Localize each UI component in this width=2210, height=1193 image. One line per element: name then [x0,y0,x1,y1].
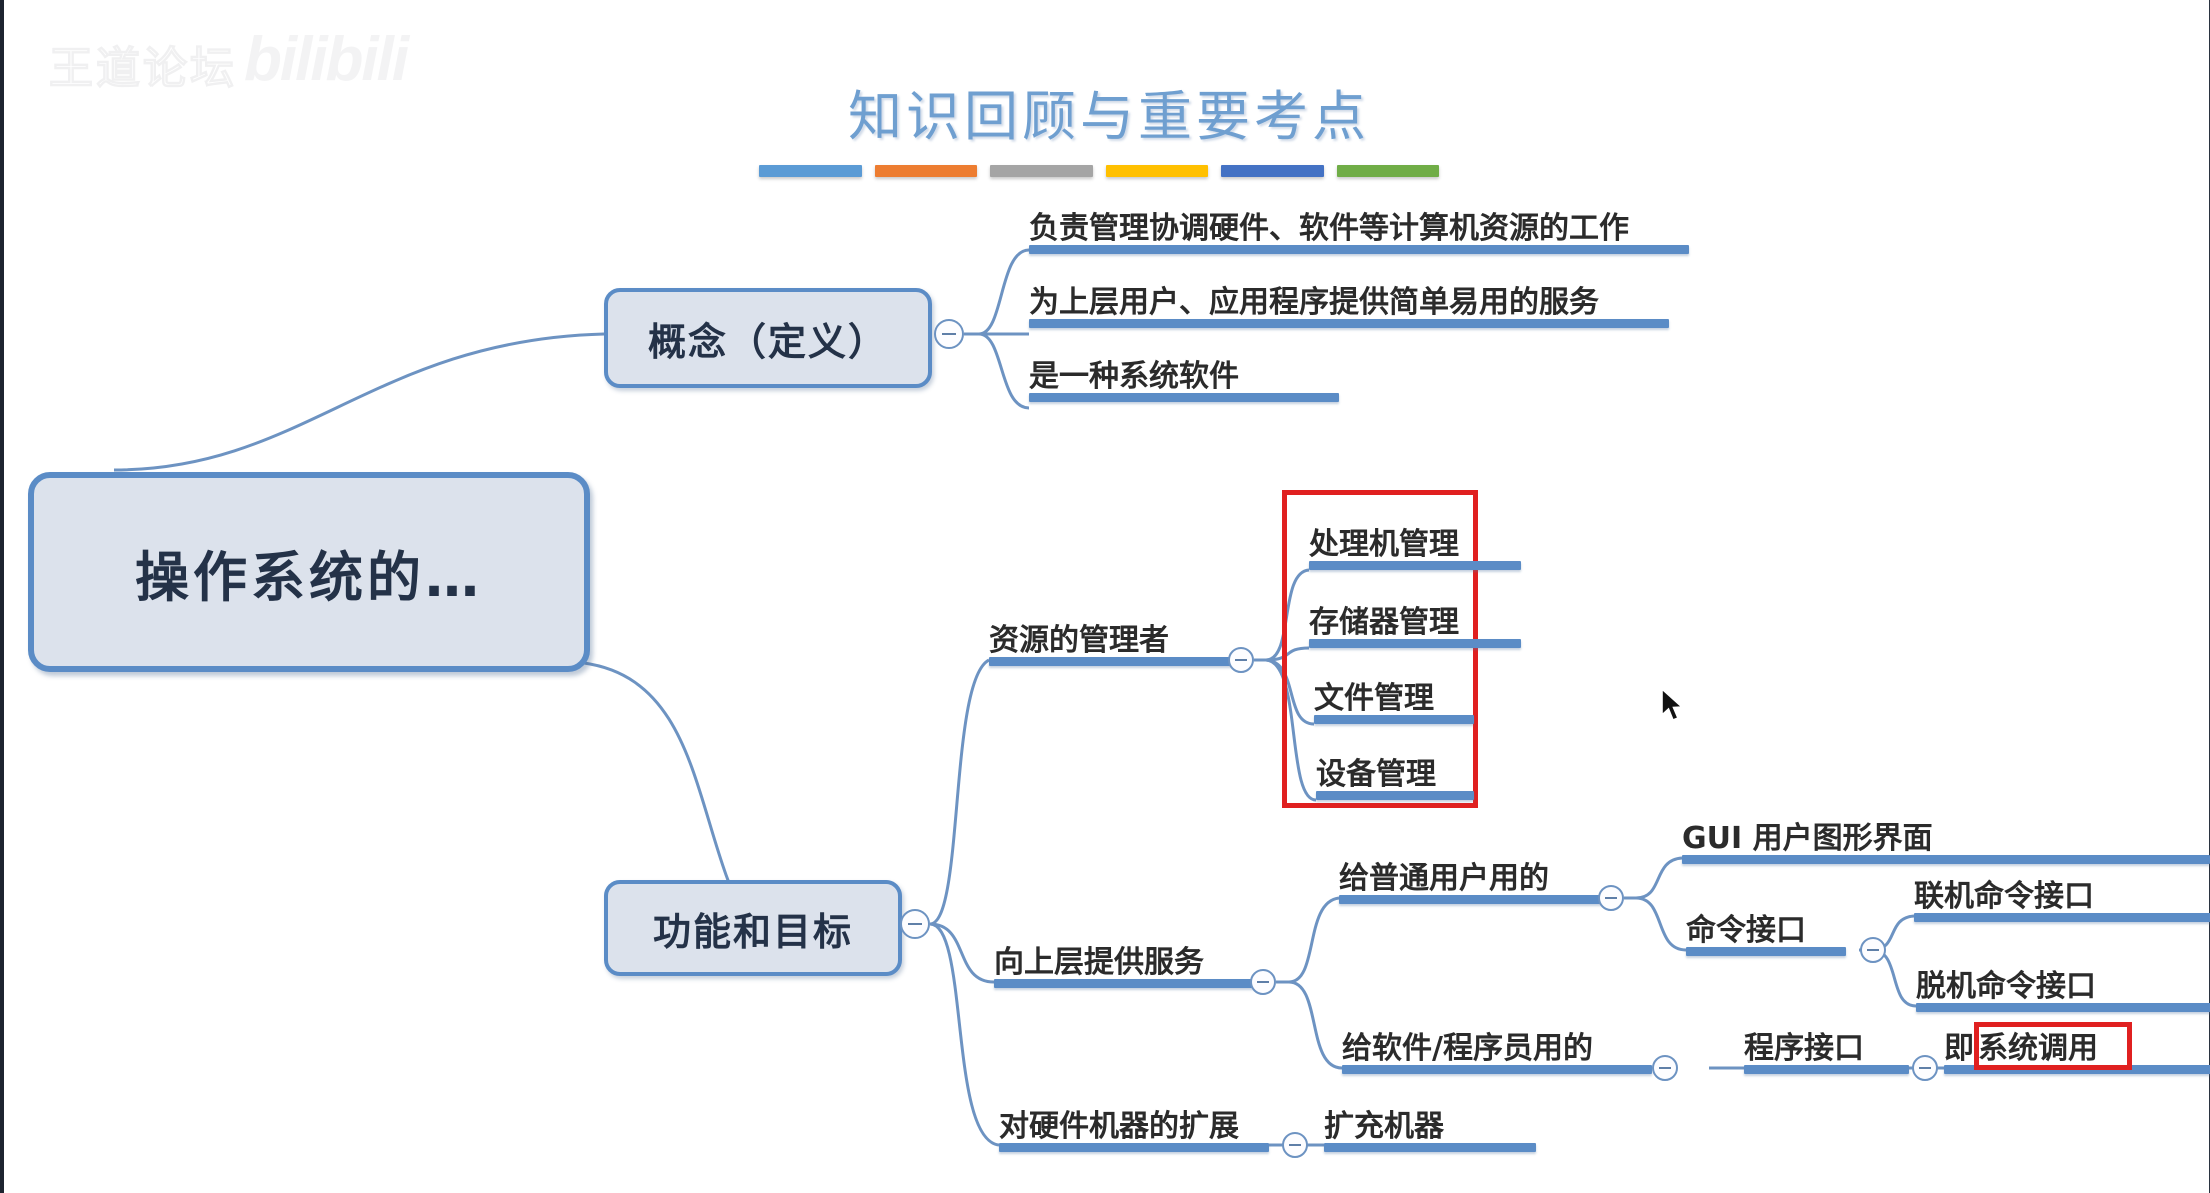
toggle-for-common-user[interactable] [1598,885,1624,911]
toggle-concept[interactable] [934,319,964,349]
leaf-command-interface[interactable]: 命令接口 [1686,900,1846,956]
leaf-extended-machine-label: 扩充机器 [1324,1101,1444,1145]
leaf-concept-2[interactable]: 为上层用户、应用程序提供简单易用的服务 [1029,272,1669,328]
leaf-underline [999,1143,1269,1152]
leaf-underline [1339,895,1611,904]
leaf-underline [989,657,1244,666]
leaf-underline [1029,393,1339,402]
leaf-concept-3[interactable]: 是一种系统软件 [1029,346,1339,402]
node-concept[interactable]: 概念（定义） [604,288,932,388]
toggle-resource-manager[interactable] [1228,647,1254,673]
leaf-underline [1309,639,1521,648]
leaf-upper-service-label: 向上层提供服务 [994,937,1204,981]
leaf-offline-command-interface[interactable]: 脱机命令接口 [1916,956,2210,1012]
leaf-concept-3-label: 是一种系统软件 [1029,351,1239,395]
node-function[interactable]: 功能和目标 [604,880,902,976]
title-bar-2 [875,165,978,177]
leaf-hardware-extension[interactable]: 对硬件机器的扩展 [999,1096,1269,1152]
leaf-for-common-user[interactable]: 给普通用户用的 [1339,848,1611,904]
title-bar-1 [759,165,862,177]
leaf-online-command-interface[interactable]: 联机命令接口 [1914,866,2210,922]
title-bar-5 [1221,165,1324,177]
leaf-underline [1914,913,2210,922]
toggle-for-programmer[interactable] [1652,1055,1678,1081]
leaf-file-management-label: 文件管理 [1314,673,1434,717]
leaf-command-interface-label: 命令接口 [1686,905,1806,949]
leaf-concept-2-label: 为上层用户、应用程序提供简单易用的服务 [1029,277,1599,321]
toggle-program-interface[interactable] [1912,1055,1938,1081]
leaf-syscall-prefix: 即 [1944,1023,1974,1067]
leaf-underline [1744,1065,1909,1074]
leaf-underline [1686,947,1846,956]
mouse-cursor-icon [1660,688,1686,724]
title-bar-3 [990,165,1093,177]
slide-canvas: 王道论坛 bilibili 知识回顾与重要考点 [0,0,2210,1193]
highlight-box-syscall [1974,1022,2132,1070]
node-function-label: 功能和目标 [653,901,853,956]
leaf-underline [1316,791,1474,800]
leaf-upper-service[interactable]: 向上层提供服务 [994,932,1266,988]
root-node-label: 操作系统的… [135,533,483,612]
leaf-processor-management-label: 处理机管理 [1309,519,1459,563]
leaf-program-interface[interactable]: 程序接口 [1744,1018,1909,1074]
page-title: 知识回顾与重要考点 [4,72,2210,151]
leaf-underline [1342,1065,1652,1074]
leaf-concept-1-label: 负责管理协调硬件、软件等计算机资源的工作 [1029,203,1629,247]
title-accent-bars [759,165,1439,177]
title-bar-4 [1106,165,1209,177]
toggle-upper-service[interactable] [1250,969,1276,995]
leaf-gui[interactable]: GUI 用户图形界面 [1682,808,2210,864]
leaf-device-management[interactable]: 设备管理 [1316,744,1474,800]
leaf-hardware-extension-label: 对硬件机器的扩展 [999,1101,1239,1145]
toggle-hardware-extension[interactable] [1282,1132,1308,1158]
leaf-program-interface-label: 程序接口 [1744,1023,1864,1067]
leaf-concept-1[interactable]: 负责管理协调硬件、软件等计算机资源的工作 [1029,198,1689,254]
leaf-extended-machine[interactable]: 扩充机器 [1324,1096,1536,1152]
leaf-underline [1029,319,1669,328]
leaf-processor-management[interactable]: 处理机管理 [1309,514,1521,570]
leaf-for-common-user-label: 给普通用户用的 [1339,853,1549,897]
leaf-gui-label: GUI 用户图形界面 [1682,813,1933,857]
root-node[interactable]: 操作系统的… [28,472,590,672]
leaf-underline [1916,1003,2210,1012]
leaf-file-management[interactable]: 文件管理 [1314,668,1474,724]
leaf-for-programmer-label: 给软件/程序员用的 [1342,1023,1593,1067]
leaf-underline [1314,715,1474,724]
title-bar-6 [1337,165,1440,177]
leaf-online-command-interface-label: 联机命令接口 [1914,871,2094,915]
leaf-underline [1324,1143,1536,1152]
leaf-underline [1682,855,2210,864]
leaf-device-management-label: 设备管理 [1316,749,1436,793]
leaf-underline [994,979,1266,988]
leaf-storage-management[interactable]: 存储器管理 [1309,592,1521,648]
leaf-storage-management-label: 存储器管理 [1309,597,1459,641]
leaf-resource-manager-label: 资源的管理者 [989,615,1169,659]
leaf-underline [1029,245,1689,254]
toggle-function[interactable] [900,909,930,939]
leaf-underline [1309,561,1521,570]
leaf-for-programmer[interactable]: 给软件/程序员用的 [1342,1018,1652,1074]
leaf-resource-manager[interactable]: 资源的管理者 [989,610,1244,666]
node-concept-label: 概念（定义） [648,311,888,366]
toggle-command-interface[interactable] [1860,937,1886,963]
leaf-offline-command-interface-label: 脱机命令接口 [1916,961,2096,1005]
